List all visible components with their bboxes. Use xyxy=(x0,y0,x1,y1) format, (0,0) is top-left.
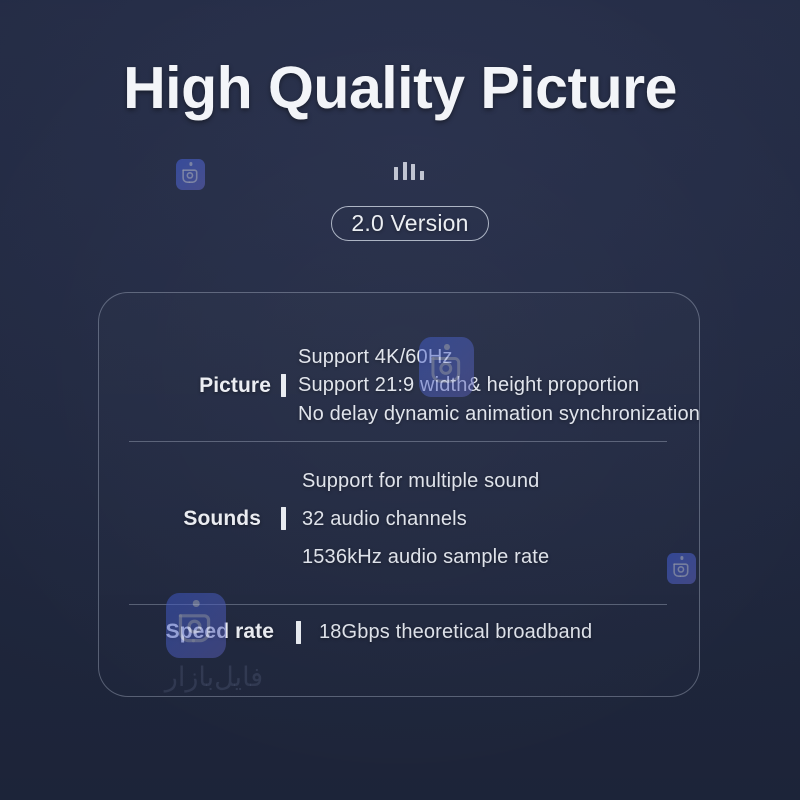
page-title: High Quality Picture xyxy=(0,58,800,120)
spec-values-speed-rate: 18Gbps theoretical broadband xyxy=(319,618,701,646)
spec-line: Support 4K/60Hz xyxy=(298,343,701,371)
spec-line: 1536kHz audio sample rate xyxy=(302,538,701,576)
row-divider xyxy=(129,441,667,442)
watermark-dot xyxy=(189,162,192,165)
version-badge: 2.0 Version xyxy=(331,206,489,241)
spec-row-speed-rate: Speed rate 18Gbps theoretical broadband xyxy=(99,610,701,654)
spec-row-sounds: Sounds Support for multiple sound 32 aud… xyxy=(99,456,701,581)
spec-line: 18Gbps theoretical broadband xyxy=(319,618,701,646)
equalizer-icon xyxy=(394,161,424,180)
spec-card: Picture Support 4K/60Hz Support 21:9 wid… xyxy=(98,292,700,697)
spec-separator-bar xyxy=(281,374,286,397)
spec-label-picture: Picture xyxy=(99,374,271,398)
equalizer-bar xyxy=(411,164,415,180)
spec-values-picture: Support 4K/60Hz Support 21:9 width& heig… xyxy=(298,343,701,428)
spec-line: No delay dynamic animation synchronizati… xyxy=(298,400,701,428)
spec-line: Support 21:9 width& height proportion xyxy=(298,371,701,399)
spec-separator-bar xyxy=(281,507,286,530)
equalizer-bar xyxy=(420,171,424,180)
spec-values-sounds: Support for multiple sound 32 audio chan… xyxy=(302,462,701,576)
equalizer-bar xyxy=(403,162,407,180)
spec-line: 32 audio channels xyxy=(302,500,701,538)
spec-row-picture: Picture Support 4K/60Hz Support 21:9 wid… xyxy=(99,330,701,441)
spec-label-sounds: Sounds xyxy=(99,507,261,531)
spec-label-speed-rate: Speed rate xyxy=(99,620,274,644)
row-divider xyxy=(129,604,667,605)
promo-banner: High Quality Picture 2.0 Version Picture… xyxy=(0,0,800,800)
app-logo-watermark-icon xyxy=(176,159,205,190)
equalizer-bar xyxy=(394,167,398,180)
spec-line: Support for multiple sound xyxy=(302,462,701,500)
watermark-glyph xyxy=(180,168,201,186)
spec-separator-bar xyxy=(296,621,301,644)
